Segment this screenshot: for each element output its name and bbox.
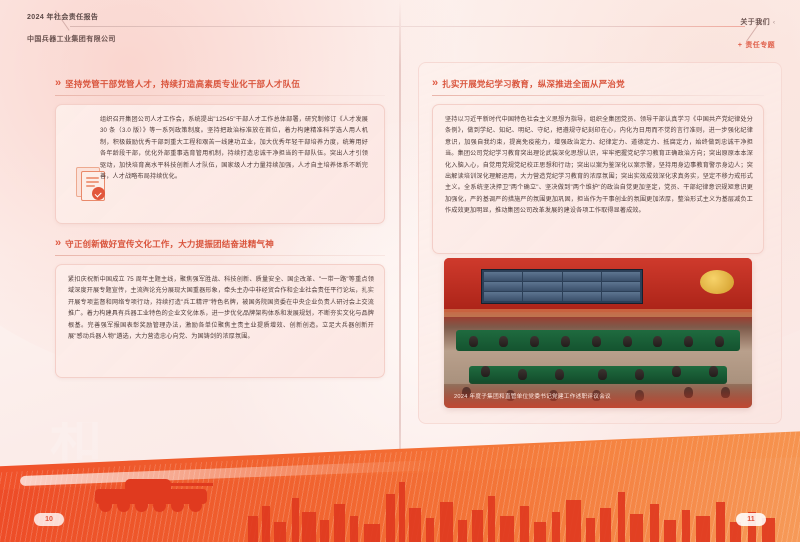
tank-wheel xyxy=(117,499,130,512)
topic-label: 责任专题 xyxy=(745,42,775,49)
meeting-photo: 2024 年度子集团和直管单位党委书记党建工作述职评议会议 xyxy=(444,258,752,408)
company-name: 中国兵器工业集团有限公司 xyxy=(27,34,116,44)
photo-image: 2024 年度子集团和直管单位党委书记党建工作述职评议会议 xyxy=(444,258,752,408)
tank-wheel xyxy=(189,499,202,512)
section-talent-body: 组织召开集团公司人才工作会，系统提出"12545"干部人才工作总体部署，研究制修… xyxy=(100,114,368,182)
photo-caption: 2024 年度子集团和直管单位党委书记党建工作述职评议会议 xyxy=(454,392,611,400)
double-chevron-icon: » xyxy=(432,78,436,89)
section-talent-header: » 坚持党管干部党管人才，持续打造高素质专业化干部人才队伍 xyxy=(55,78,385,90)
chevron-left-icon: ‹ xyxy=(773,20,775,26)
report-spread: 2024 年社会责任报告 中国兵器工业集团有限公司 关于我们‹ +责任专题 » … xyxy=(0,0,800,542)
section-discipline-card: 坚持以习近平新时代中国特色社会主义思想为指导，组织全集团党员、领导干部认真学习《… xyxy=(432,104,764,254)
tank-barrel xyxy=(165,483,213,487)
section-discipline-title: 扎实开展党纪学习教育，纵深推进全面从严治党 xyxy=(442,78,625,90)
double-chevron-icon: » xyxy=(55,78,59,89)
section-discipline-rule xyxy=(432,95,764,96)
header-rule-right xyxy=(401,26,745,27)
check-badge-icon xyxy=(92,187,105,200)
plus-icon: + xyxy=(738,42,743,49)
section-talent-rule xyxy=(55,95,385,96)
section-culture-body: 紧扣庆祝新中国成立 75 周年主题主线，聚焦强军胜战、科技创新、质量安全、国企改… xyxy=(68,274,374,342)
about-us-link[interactable]: 关于我们‹ xyxy=(738,11,775,29)
double-chevron-icon: » xyxy=(55,238,59,249)
about-us-label: 关于我们 xyxy=(740,19,770,26)
footer-graphic: 和 xyxy=(0,422,800,542)
report-title: 2024 年社会责任报告 xyxy=(27,12,116,22)
section-culture-rule xyxy=(55,255,385,256)
tank-wheel xyxy=(99,499,112,512)
section-discipline-body: 坚持以习近平新时代中国特色社会主义思想为指导，组织全集团党员、领导干部认真学习《… xyxy=(445,114,753,217)
section-culture: » 守正创新做好宣传文化工作，大力提振团结奋进精气神 紧扣庆祝新中国成立 75 … xyxy=(55,238,385,378)
tank-wheel xyxy=(153,499,166,512)
section-culture-card: 紧扣庆祝新中国成立 75 周年主题主线，聚焦强军胜战、科技创新、质量安全、国企改… xyxy=(55,264,385,378)
tank-wheel xyxy=(135,499,148,512)
section-discipline-header: » 扎实开展党纪学习教育，纵深推进全面从严治党 xyxy=(432,78,764,90)
tank-silhouette-icon xyxy=(95,472,215,512)
section-talent-title: 坚持党管干部党管人才，持续打造高素质专业化干部人才队伍 xyxy=(65,78,300,90)
section-culture-header: » 守正创新做好宣传文化工作，大力提振团结奋进精气神 xyxy=(55,238,385,250)
tank-wheel xyxy=(171,499,184,512)
section-culture-title: 守正创新做好宣传文化工作，大力提振团结奋进精气神 xyxy=(65,238,274,250)
header-rule-left xyxy=(70,26,400,27)
page-number-right: 11 xyxy=(736,513,766,526)
section-talent-card: 组织召开集团公司人才工作会，系统提出"12545"干部人才工作总体部署，研究制修… xyxy=(55,104,385,224)
header-right: 关于我们‹ +责任专题 xyxy=(738,11,775,50)
section-talent: » 坚持党管干部党管人才，持续打造高素质专业化干部人才队伍 组织召开集团公司人才… xyxy=(55,78,385,224)
topic-link[interactable]: +责任专题 xyxy=(738,40,775,50)
page-number-left: 10 xyxy=(34,513,64,526)
header-left: 2024 年社会责任报告 中国兵器工业集团有限公司 xyxy=(27,12,116,44)
section-discipline: » 扎实开展党纪学习教育，纵深推进全面从严治党 坚持以习近平新时代中国特色社会主… xyxy=(432,78,764,254)
